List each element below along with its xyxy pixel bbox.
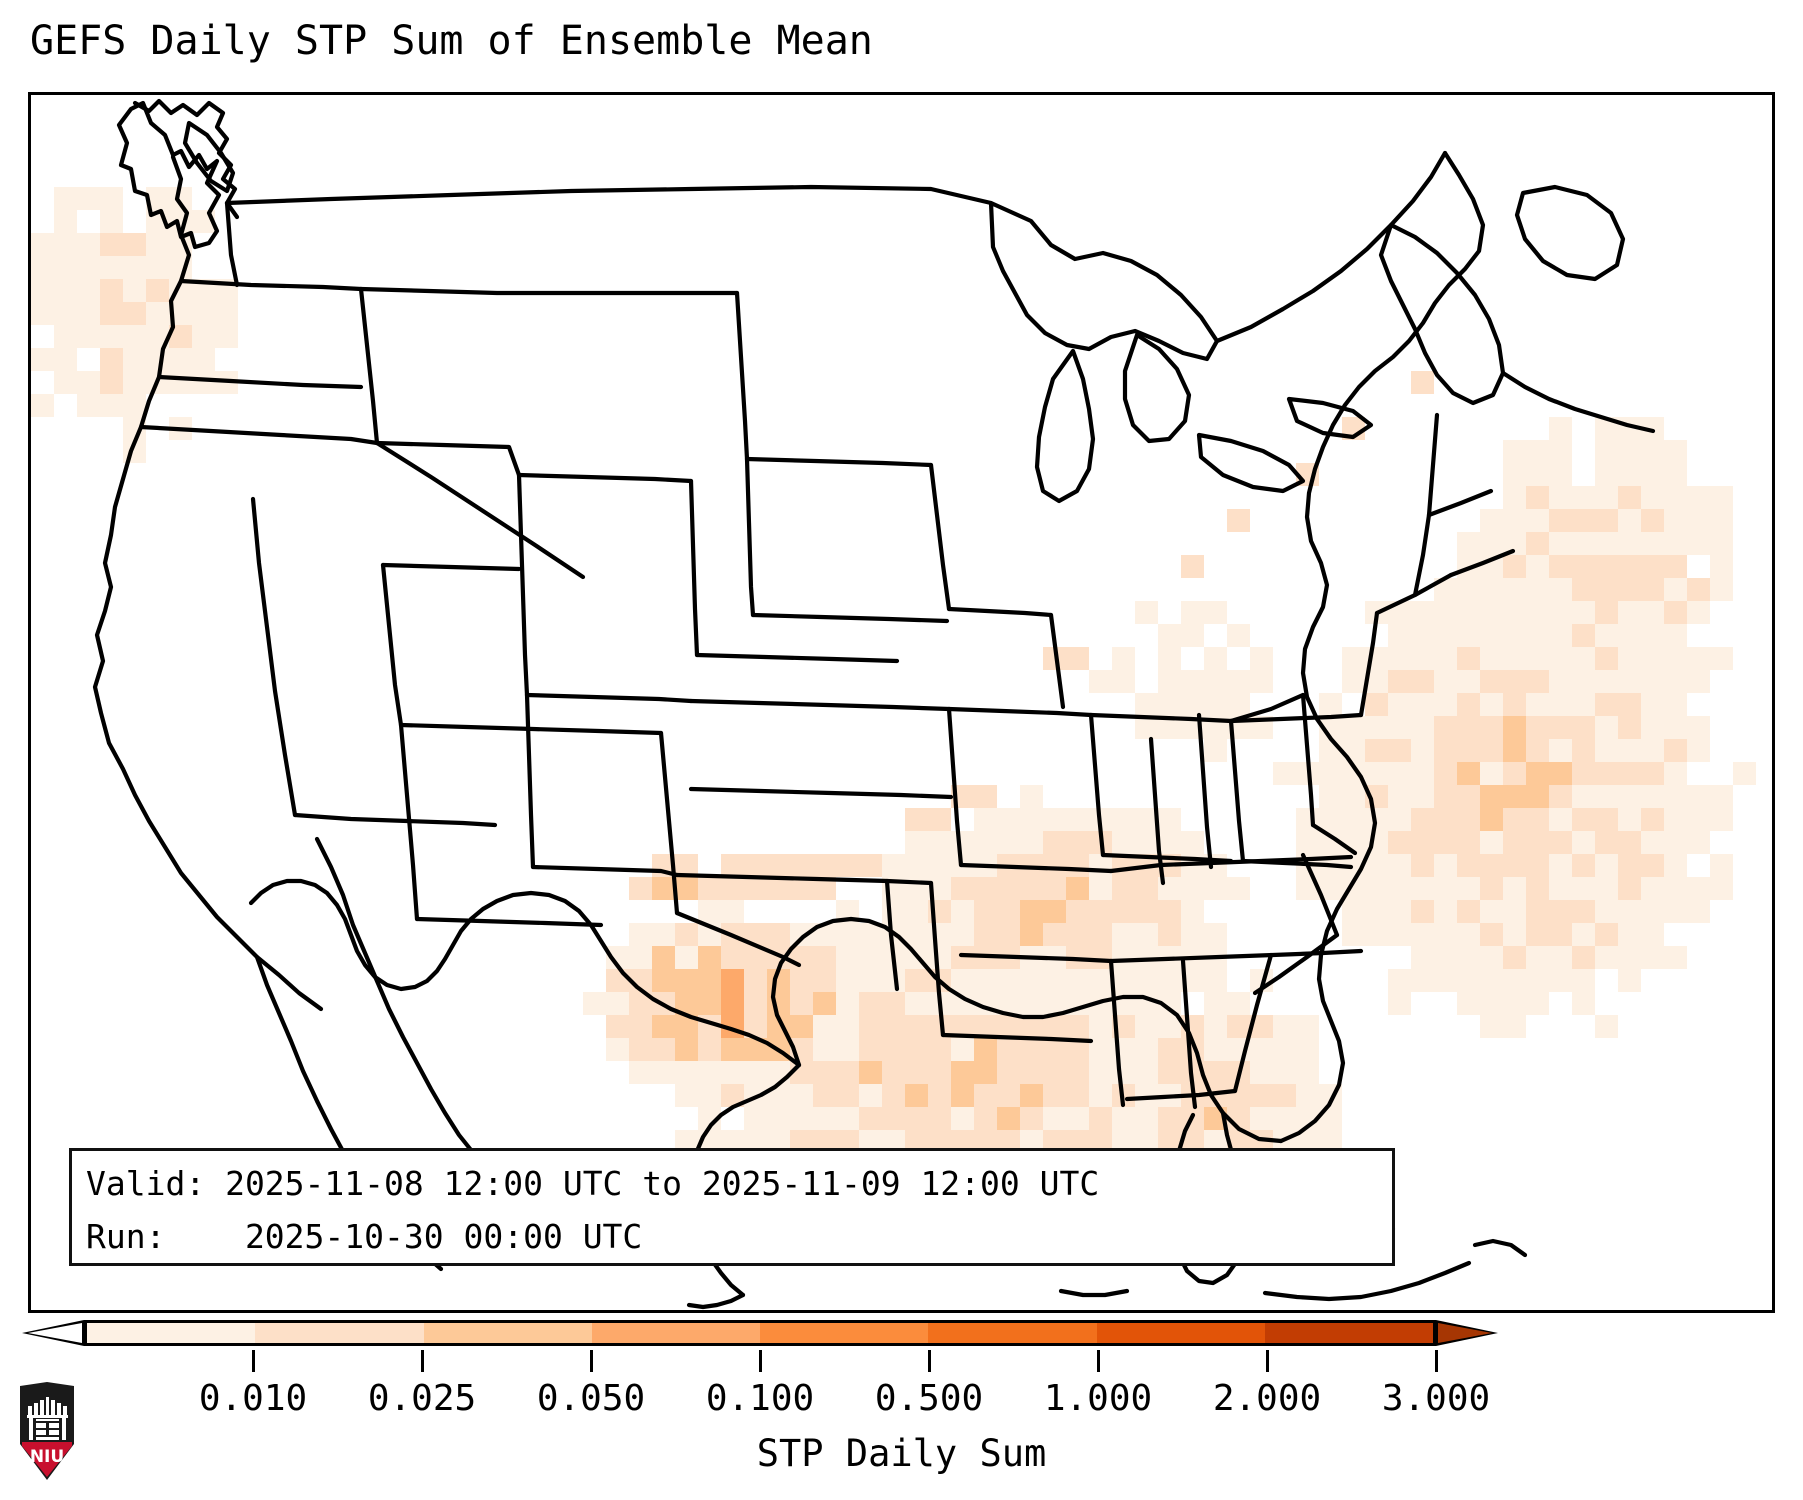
colorbar-tick-5 xyxy=(1097,1350,1100,1372)
state-borders xyxy=(141,203,1513,1107)
logo-text: NIU xyxy=(30,1447,64,1467)
great-lakes-superior xyxy=(991,203,1217,359)
st-lawrence-gulf xyxy=(1381,225,1503,403)
page-title: GEFS Daily STP Sum of Ensemble Mean xyxy=(30,18,873,64)
colorbar-tick-label-7: 3.000 xyxy=(1382,1378,1490,1419)
colorbar-segment-5 xyxy=(928,1323,1096,1343)
cuba-north-coast xyxy=(1265,1263,1469,1299)
colorbar-tick-label-5: 1.000 xyxy=(1044,1378,1152,1419)
caribbean-island-small xyxy=(1475,1241,1525,1255)
colorbar-segment-4 xyxy=(760,1323,928,1343)
colorbar-segment-1 xyxy=(255,1323,423,1343)
colorbar-segment-2 xyxy=(424,1323,592,1343)
niu-logo: NIU xyxy=(16,1382,78,1482)
colorbar-tick-2 xyxy=(590,1350,593,1372)
lake-erie xyxy=(1199,435,1303,491)
colorbar-under-arrow xyxy=(22,1320,84,1346)
colorbar-segment-7 xyxy=(1265,1323,1433,1343)
colorbar-tick-1 xyxy=(421,1350,424,1372)
colorbar-tick-7 xyxy=(1435,1350,1438,1372)
yucatan-hint xyxy=(1061,1291,1127,1295)
colorbar-tick-label-3: 0.100 xyxy=(706,1378,814,1419)
map-panel: Valid: 2025-11-08 12:00 UTC to 2025-11-0… xyxy=(28,92,1775,1313)
colorbar-tick-3 xyxy=(759,1350,762,1372)
colorbar-segment-3 xyxy=(592,1323,760,1343)
mexico-gulf-coast xyxy=(689,1295,743,1307)
nova-scotia-maine-coast xyxy=(1503,373,1653,431)
us-mexico-border xyxy=(251,881,799,1065)
forecast-info-box: Valid: 2025-11-08 12:00 UTC to 2025-11-0… xyxy=(69,1148,1395,1266)
newfoundland xyxy=(1517,187,1623,279)
colorbar-over-arrow xyxy=(1436,1320,1498,1346)
colorbar-segment-6 xyxy=(1097,1323,1265,1343)
colorbar-tick-label-6: 2.000 xyxy=(1213,1378,1321,1419)
colorbar-segment-0 xyxy=(87,1323,255,1343)
colorbar-tick-0 xyxy=(252,1350,255,1372)
lake-michigan xyxy=(1037,351,1093,501)
colorbar-gradient xyxy=(84,1320,1436,1346)
colorbar-tick-6 xyxy=(1266,1350,1269,1372)
atlantic-coastline xyxy=(1281,153,1483,1141)
colorbar xyxy=(0,1313,1803,1373)
canada-east-border xyxy=(1217,153,1445,341)
colorbar-axis-label: STP Daily Sum xyxy=(0,1432,1803,1475)
colorbar-tick-label-1: 0.025 xyxy=(368,1378,476,1419)
colorbar-tick-label-0: 0.010 xyxy=(199,1378,307,1419)
geography-layer xyxy=(31,95,1772,1310)
us-canada-border-west xyxy=(227,187,991,203)
valid-time-text: Valid: 2025-11-08 12:00 UTC to 2025-11-0… xyxy=(86,1157,1378,1210)
colorbar-tick-label-4: 0.500 xyxy=(875,1378,983,1419)
colorbar-tick-4 xyxy=(928,1350,931,1372)
gulf-coastline xyxy=(773,919,1281,1141)
colorbar-tick-label-2: 0.050 xyxy=(537,1378,645,1419)
run-time-text: Run: 2025-10-30 00:00 UTC xyxy=(86,1210,1378,1263)
